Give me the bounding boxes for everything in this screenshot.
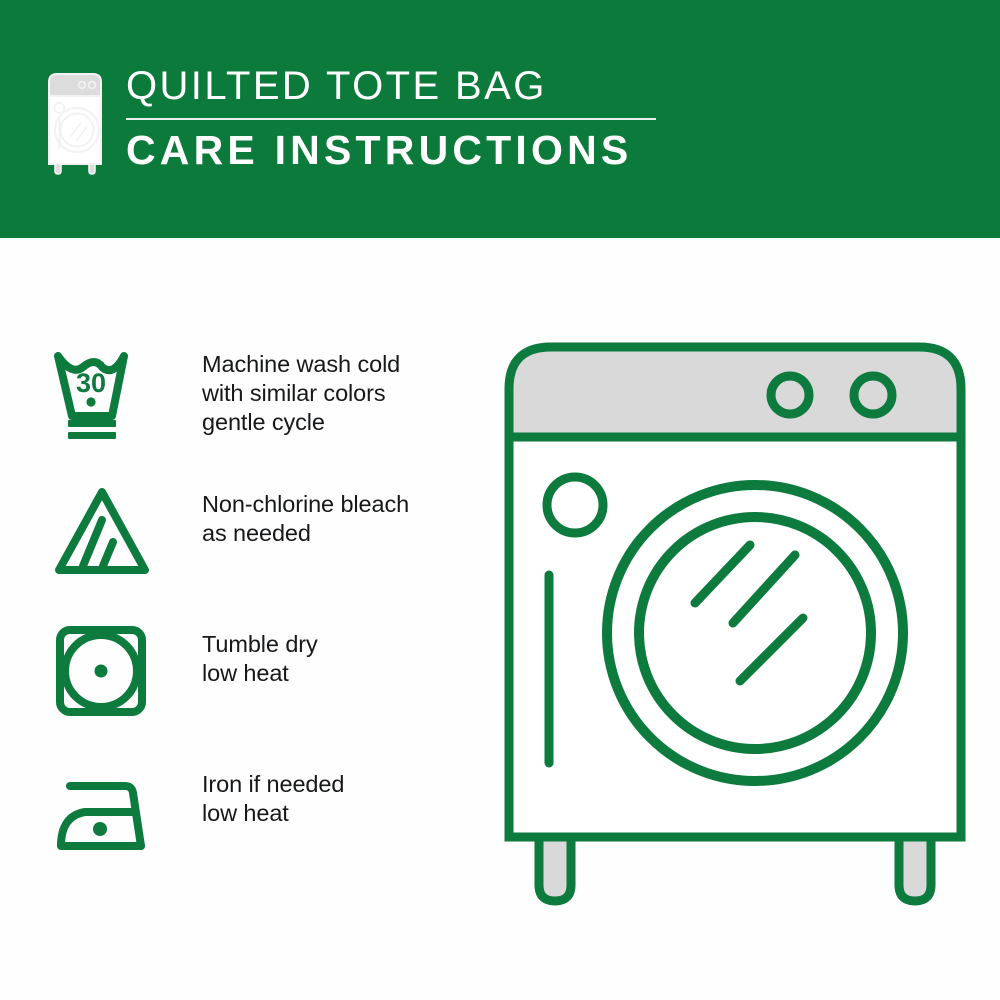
header-title-block: QUILTED TOTE BAG CARE INSTRUCTIONS (126, 66, 656, 171)
list-item: Tumble dry low heat (50, 618, 470, 758)
header-content: QUILTED TOTE BAG CARE INSTRUCTIONS (44, 66, 656, 176)
machine-leg (899, 837, 931, 901)
list-item-label: Non-chlorine bleach as needed (160, 478, 470, 548)
iron-low-heat-icon (50, 758, 160, 864)
instruction-line: as needed (202, 519, 470, 548)
instruction-line: low heat (202, 799, 470, 828)
instruction-line: with similar colors (202, 379, 470, 408)
page-subtitle: CARE INSTRUCTIONS (126, 130, 656, 171)
instruction-line: gentle cycle (202, 408, 470, 437)
care-instruction-list: 30 Machine wash cold with similar colors… (50, 338, 470, 898)
bleach-triangle-icon (50, 478, 160, 584)
instruction-line: Machine wash cold (202, 350, 470, 379)
list-item-label: Iron if needed low heat (160, 758, 470, 828)
title-divider (126, 118, 656, 120)
machine-leg (539, 837, 571, 901)
washing-machine-icon (44, 68, 106, 176)
list-item: Iron if needed low heat (50, 758, 470, 898)
list-item: Non-chlorine bleach as needed (50, 478, 470, 618)
list-item-label: Tumble dry low heat (160, 618, 470, 688)
content-area: 30 Machine wash cold with similar colors… (0, 238, 1000, 1000)
instruction-line: Non-chlorine bleach (202, 490, 470, 519)
instruction-line: Tumble dry (202, 630, 470, 659)
svg-text:30: 30 (76, 368, 106, 398)
instruction-line: low heat (202, 659, 470, 688)
header-banner: QUILTED TOTE BAG CARE INSTRUCTIONS (0, 0, 1000, 238)
list-item: 30 Machine wash cold with similar colors… (50, 338, 470, 478)
list-item-label: Machine wash cold with similar colors ge… (160, 338, 470, 437)
page-title: QUILTED TOTE BAG (126, 66, 656, 118)
instruction-line: Iron if needed (202, 770, 470, 799)
washing-machine-illustration (495, 333, 975, 933)
wash-tub-30-icon: 30 (50, 338, 160, 444)
tumble-dry-low-icon (50, 618, 160, 724)
